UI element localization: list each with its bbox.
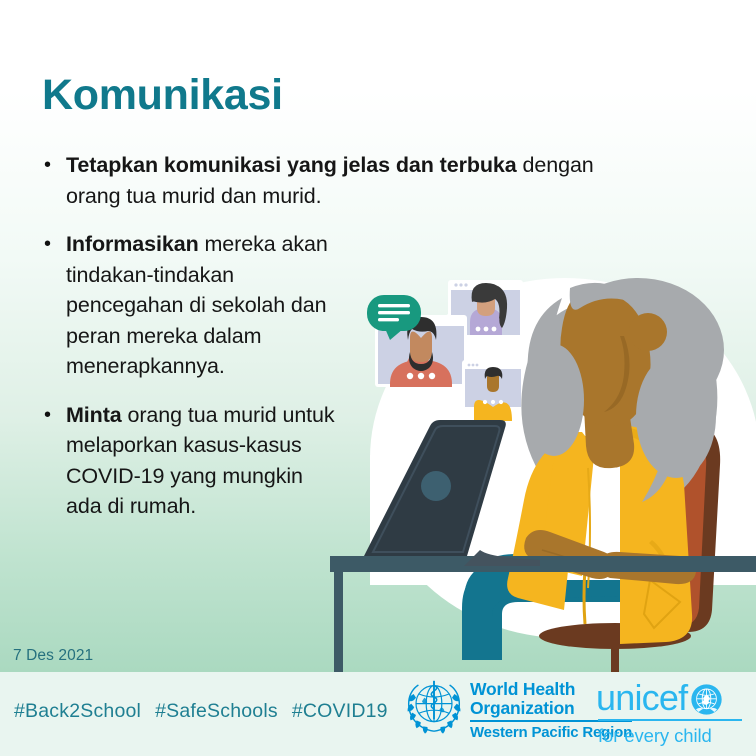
bullet-text: Tetapkan komunikasi yang jelas dan terbu… xyxy=(66,150,606,211)
hashtag-covid19[interactable]: #COVID19 xyxy=(292,700,388,722)
unicef-divider xyxy=(598,719,742,721)
unicef-tagline: for every child xyxy=(596,725,746,747)
bullet-bold: Informasikan xyxy=(66,232,199,256)
bullet-bold: Tetapkan komunikasi yang jelas dan terbu… xyxy=(66,153,517,177)
list-item: • Minta orang tua murid untuk melaporkan… xyxy=(40,400,620,522)
bullet-marker: • xyxy=(40,229,66,259)
hashtag-list: #Back2School#SafeSchools#COVID19 xyxy=(14,700,402,723)
bullet-text: Informasikan mereka akan tindakan-tindak… xyxy=(66,229,351,382)
bullet-marker: • xyxy=(40,150,66,180)
date-label: 7 Des 2021 xyxy=(13,647,93,665)
bullet-text: Minta orang tua murid untuk melaporkan k… xyxy=(66,400,341,522)
desk-leg xyxy=(334,570,343,672)
list-item: • Tetapkan komunikasi yang jelas dan ter… xyxy=(40,150,620,211)
hashtag-safeschools[interactable]: #SafeSchools xyxy=(155,700,278,722)
who-emblem-icon xyxy=(404,676,464,736)
unicef-logo: unicef for every child xyxy=(596,680,746,747)
bullet-list: • Tetapkan komunikasi yang jelas dan ter… xyxy=(40,150,620,540)
unicef-wordmark-row: unicef xyxy=(596,680,746,716)
desk-top xyxy=(330,556,756,572)
poster-canvas: Komunikasi • Tetapkan komunikasi yang je… xyxy=(0,0,756,756)
page-title: Komunikasi xyxy=(42,72,283,119)
bullet-marker: • xyxy=(40,400,66,430)
bullet-bold: Minta xyxy=(66,403,122,427)
list-item: • Informasikan mereka akan tindakan-tind… xyxy=(40,229,620,382)
unicef-emblem-icon xyxy=(690,683,723,716)
unicef-wordmark: unicef xyxy=(596,680,687,716)
hashtag-back2school[interactable]: #Back2School xyxy=(14,700,141,722)
